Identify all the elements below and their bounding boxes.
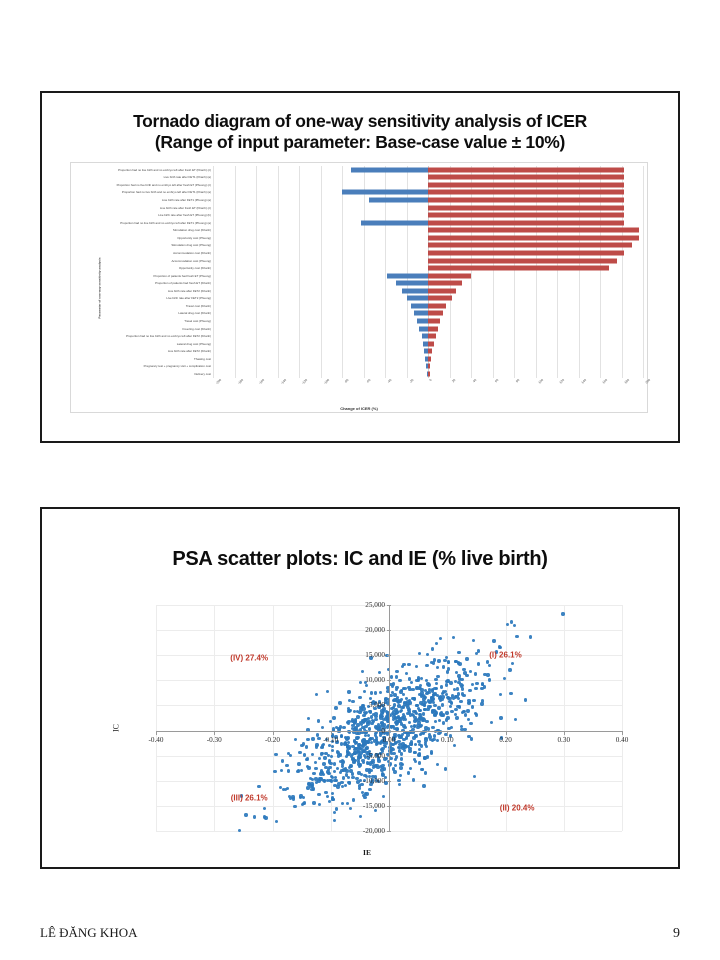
psa-data-point bbox=[407, 771, 410, 774]
psa-data-point bbox=[402, 738, 405, 741]
psa-y-tick-label: -5,000 bbox=[366, 752, 385, 760]
psa-x-tick-label: -0.30 bbox=[207, 736, 222, 744]
psa-data-point bbox=[374, 691, 377, 694]
psa-y-tick-label: 25,000 bbox=[365, 601, 385, 609]
psa-data-point bbox=[356, 737, 359, 740]
psa-data-point bbox=[423, 756, 426, 759]
tornado-x-tick: 100 bbox=[537, 378, 544, 385]
psa-data-point bbox=[378, 671, 381, 674]
psa-data-point bbox=[440, 685, 443, 688]
psa-y-tick-label: 0 bbox=[381, 727, 385, 735]
psa-data-point bbox=[349, 764, 352, 767]
psa-data-point bbox=[358, 784, 361, 787]
psa-data-point bbox=[428, 735, 431, 738]
tornado-category-label: Thawing cost bbox=[81, 355, 211, 363]
tornado-x-tick: -160 bbox=[258, 378, 265, 385]
tornado-bar-row bbox=[213, 234, 643, 242]
psa-data-point bbox=[327, 772, 330, 775]
tornado-category-label: Live birth rate after fresh ET (Phuong) … bbox=[81, 211, 211, 219]
psa-data-point bbox=[331, 749, 334, 752]
psa-data-point bbox=[333, 762, 336, 765]
psa-data-point bbox=[410, 681, 413, 684]
psa-data-point bbox=[358, 696, 361, 699]
psa-data-point bbox=[306, 738, 309, 741]
psa-data-point bbox=[418, 761, 421, 764]
psa-data-point bbox=[509, 692, 512, 695]
psa-y-tickmark bbox=[387, 781, 391, 782]
psa-data-point bbox=[257, 785, 260, 788]
psa-data-point bbox=[347, 690, 350, 693]
tornado-bar-row bbox=[213, 272, 643, 280]
tornado-bar-low bbox=[342, 190, 428, 195]
tornado-bar-high bbox=[428, 198, 624, 203]
psa-data-point bbox=[442, 665, 445, 668]
psa-data-point bbox=[400, 752, 403, 755]
psa-data-point bbox=[398, 783, 401, 786]
psa-data-point bbox=[413, 719, 416, 722]
psa-data-point bbox=[310, 788, 313, 791]
psa-data-point bbox=[449, 705, 452, 708]
footer-author: LÊ ĐĂNG KHOA bbox=[40, 925, 138, 941]
tornado-x-tick: -80 bbox=[343, 378, 349, 384]
psa-data-point bbox=[423, 704, 426, 707]
tornado-category-label: Live birth rate after FET2 (Khanh) bbox=[81, 287, 211, 295]
psa-data-point bbox=[368, 788, 371, 791]
psa-data-point bbox=[342, 776, 345, 779]
psa-data-point bbox=[402, 724, 405, 727]
psa-data-point bbox=[364, 725, 367, 728]
psa-data-point bbox=[410, 740, 413, 743]
psa-data-point bbox=[406, 733, 409, 736]
tornado-title-line-2: (Range of input parameter: Base-case val… bbox=[42, 132, 678, 153]
psa-data-point bbox=[459, 700, 462, 703]
tornado-bar-row bbox=[213, 348, 643, 356]
tornado-bar-high bbox=[428, 273, 471, 278]
psa-data-point bbox=[480, 702, 483, 705]
psa-data-point bbox=[433, 658, 436, 661]
psa-slide-title: PSA scatter plots: IC and IE (% live bir… bbox=[42, 547, 678, 571]
psa-y-tick-label: -15,000 bbox=[363, 802, 385, 810]
tornado-category-label: Pregnancy test + pregnancy visit + compl… bbox=[81, 363, 211, 371]
psa-data-point bbox=[355, 777, 358, 780]
psa-data-point bbox=[447, 667, 450, 670]
psa-data-point bbox=[341, 785, 344, 788]
tornado-x-tick: 40 bbox=[472, 378, 477, 383]
psa-y-tick-label: -10,000 bbox=[363, 777, 385, 785]
psa-data-point bbox=[351, 776, 354, 779]
tornado-bar-high bbox=[428, 258, 617, 263]
psa-data-point bbox=[348, 709, 351, 712]
psa-data-point bbox=[382, 795, 385, 798]
psa-y-tickmark bbox=[387, 756, 391, 757]
psa-data-point bbox=[416, 724, 419, 727]
tornado-category-label: Delivery cost bbox=[81, 370, 211, 378]
psa-scatter-chart: IC -0.40-0.30-0.20-0.100.000.100.200.300… bbox=[102, 597, 632, 859]
psa-data-point bbox=[326, 795, 329, 798]
tornado-bar-row bbox=[213, 325, 643, 333]
psa-data-point bbox=[424, 701, 427, 704]
tornado-category-label: Live birth rate after fresh ET (Khanh) (… bbox=[81, 204, 211, 212]
psa-data-point bbox=[362, 738, 365, 741]
quadrant-III-label: (III) 26.1% bbox=[231, 794, 268, 803]
psa-data-point bbox=[473, 775, 476, 778]
psa-data-point bbox=[294, 738, 297, 741]
psa-data-point bbox=[471, 705, 474, 708]
psa-data-point bbox=[381, 772, 384, 775]
tornado-category-label: Accommodation cost (Khanh) bbox=[81, 249, 211, 257]
psa-y-tick-label: 10,000 bbox=[365, 676, 385, 684]
psa-y-tickmark bbox=[387, 731, 391, 732]
psa-data-point bbox=[299, 794, 302, 797]
psa-data-point bbox=[561, 612, 564, 615]
psa-data-point bbox=[529, 635, 532, 638]
psa-data-point bbox=[361, 704, 364, 707]
psa-data-point bbox=[456, 687, 459, 690]
psa-data-point bbox=[508, 668, 511, 671]
psa-data-point bbox=[326, 690, 329, 693]
psa-data-point bbox=[315, 693, 318, 696]
psa-data-point bbox=[355, 741, 358, 744]
psa-x-axis-title: IE bbox=[102, 848, 632, 857]
psa-data-point bbox=[339, 753, 342, 756]
psa-data-point bbox=[365, 684, 368, 687]
psa-data-point bbox=[366, 721, 369, 724]
tornado-category-label: Lateral drug cost (Khanh) bbox=[81, 310, 211, 318]
tornado-bar-high bbox=[428, 303, 446, 308]
psa-data-point bbox=[312, 801, 315, 804]
psa-data-point bbox=[431, 739, 434, 742]
psa-data-point bbox=[405, 672, 408, 675]
psa-data-point bbox=[331, 745, 334, 748]
psa-data-point bbox=[477, 649, 480, 652]
tornado-bar-high bbox=[428, 341, 434, 346]
psa-data-point bbox=[334, 706, 337, 709]
tornado-category-label: Lateral drug cost (Phuong) bbox=[81, 340, 211, 348]
psa-data-point bbox=[474, 687, 477, 690]
psa-data-point bbox=[356, 715, 359, 718]
psa-data-point bbox=[429, 705, 432, 708]
tornado-x-tick: -40 bbox=[386, 378, 392, 384]
tornado-bar-high bbox=[428, 250, 624, 255]
psa-data-point bbox=[322, 762, 325, 765]
psa-y-tickmark bbox=[387, 705, 391, 706]
psa-data-point bbox=[314, 777, 317, 780]
psa-data-point bbox=[488, 664, 491, 667]
tornado-title-line-1: Tornado diagram of one-way sensitivity a… bbox=[42, 111, 678, 132]
psa-data-point bbox=[300, 769, 303, 772]
tornado-x-tick: 120 bbox=[559, 378, 566, 385]
tornado-bar-row bbox=[213, 257, 643, 265]
tornado-category-label: Live birth rate after FET2 (Khanh) bbox=[81, 348, 211, 356]
tornado-category-label: Accommodation cost (Phuong) bbox=[81, 257, 211, 265]
psa-data-point bbox=[445, 683, 448, 686]
psa-data-point bbox=[320, 752, 323, 755]
psa-data-point bbox=[399, 774, 402, 777]
tornado-bar-high bbox=[428, 334, 436, 339]
tornado-bar-row bbox=[213, 181, 643, 189]
psa-x-tickmark bbox=[273, 731, 274, 735]
psa-data-point bbox=[341, 760, 344, 763]
psa-data-point bbox=[470, 737, 473, 740]
tornado-category-label: Opportunity cost (Khanh) bbox=[81, 264, 211, 272]
psa-data-point bbox=[449, 681, 452, 684]
tornado-slide-title: Tornado diagram of one-way sensitivity a… bbox=[42, 111, 678, 153]
psa-data-point bbox=[454, 708, 457, 711]
psa-data-point bbox=[417, 676, 420, 679]
psa-data-point bbox=[338, 701, 341, 704]
psa-data-point bbox=[475, 682, 478, 685]
psa-data-point bbox=[342, 726, 345, 729]
tornado-bar-row bbox=[213, 219, 643, 227]
tornado-category-label: Stimulation drug cost (Phuong) bbox=[81, 242, 211, 250]
psa-data-point bbox=[424, 771, 427, 774]
psa-data-point bbox=[303, 753, 306, 756]
tornado-bar-low bbox=[407, 296, 429, 301]
psa-data-point bbox=[280, 769, 283, 772]
psa-data-point bbox=[477, 662, 480, 665]
psa-data-point bbox=[490, 721, 493, 724]
psa-data-point bbox=[446, 716, 449, 719]
psa-data-point bbox=[348, 781, 351, 784]
psa-data-point bbox=[339, 771, 342, 774]
psa-data-point bbox=[437, 659, 440, 662]
psa-data-point bbox=[324, 752, 327, 755]
psa-data-point bbox=[273, 770, 276, 773]
psa-x-tick-label: 0.30 bbox=[557, 736, 570, 744]
footer-page-number: 9 bbox=[673, 926, 680, 942]
psa-data-point bbox=[370, 715, 373, 718]
tornado-bar-row bbox=[213, 295, 643, 303]
psa-data-point bbox=[474, 672, 477, 675]
tornado-category-labels: Proportion had no live birth and no embr… bbox=[81, 166, 211, 378]
tornado-category-label: Stimulation drug cost (Khanh) bbox=[81, 227, 211, 235]
tornado-category-label: Opportunity cost (Phuong) bbox=[81, 234, 211, 242]
tornado-category-label: Proportion of patients had fresh ET (Kha… bbox=[81, 279, 211, 287]
tornado-bar-high bbox=[428, 364, 430, 369]
psa-data-point bbox=[457, 674, 460, 677]
psa-x-tickmark bbox=[447, 731, 448, 735]
tornado-x-tick: -180 bbox=[236, 378, 243, 385]
psa-data-point bbox=[461, 687, 464, 690]
tornado-x-tick: 60 bbox=[494, 378, 499, 383]
psa-data-point bbox=[397, 779, 400, 782]
psa-y-tick-label: 5,000 bbox=[369, 701, 385, 709]
psa-data-point bbox=[431, 647, 434, 650]
tornado-bar-row bbox=[213, 249, 643, 257]
psa-data-point bbox=[465, 674, 468, 677]
psa-data-point bbox=[511, 662, 514, 665]
psa-data-point bbox=[395, 675, 398, 678]
tornado-bar-high bbox=[428, 213, 624, 218]
psa-data-point bbox=[253, 815, 256, 818]
psa-data-point bbox=[393, 693, 396, 696]
psa-data-point bbox=[346, 736, 349, 739]
psa-data-point bbox=[279, 786, 282, 789]
psa-data-point bbox=[417, 753, 420, 756]
psa-data-point bbox=[419, 716, 422, 719]
psa-data-point bbox=[324, 791, 327, 794]
psa-data-point bbox=[264, 816, 267, 819]
tornado-bar-row bbox=[213, 355, 643, 363]
psa-plot-area: -0.40-0.30-0.20-0.100.000.100.200.300.40… bbox=[156, 605, 622, 831]
psa-data-point bbox=[435, 642, 438, 645]
psa-data-point bbox=[379, 714, 382, 717]
psa-data-point bbox=[499, 716, 502, 719]
psa-data-point bbox=[426, 708, 429, 711]
tornado-x-tick: -140 bbox=[279, 378, 286, 385]
psa-data-point bbox=[420, 744, 423, 747]
tornado-bar-high bbox=[428, 167, 624, 172]
tornado-category-label: Proportion of patients had fresh ET (Phu… bbox=[81, 272, 211, 280]
psa-x-tick-label: -0.10 bbox=[323, 736, 338, 744]
psa-data-point bbox=[285, 764, 288, 767]
psa-data-point bbox=[399, 766, 402, 769]
psa-x-tick-label: 0.40 bbox=[616, 736, 629, 744]
psa-data-point bbox=[431, 726, 434, 729]
psa-data-point bbox=[333, 770, 336, 773]
psa-data-point bbox=[402, 693, 405, 696]
tornado-category-label: Proportion had no live birth and no embr… bbox=[81, 332, 211, 340]
tornado-bar-high bbox=[428, 281, 462, 286]
psa-data-point bbox=[421, 768, 424, 771]
psa-data-point bbox=[515, 635, 518, 638]
psa-data-point bbox=[357, 763, 360, 766]
psa-data-point bbox=[383, 767, 386, 770]
psa-data-point bbox=[365, 746, 368, 749]
tornado-x-tick: -20 bbox=[408, 378, 414, 384]
psa-x-tickmark bbox=[156, 731, 157, 735]
tornado-x-tick: -200 bbox=[215, 378, 222, 385]
psa-data-point bbox=[447, 661, 450, 664]
tornado-x-tick: 200 bbox=[645, 378, 652, 385]
psa-data-point bbox=[305, 745, 308, 748]
psa-gridline-vertical bbox=[622, 605, 623, 831]
tornado-bar-high bbox=[428, 296, 452, 301]
psa-data-point bbox=[432, 709, 435, 712]
psa-data-point bbox=[297, 762, 300, 765]
psa-data-point bbox=[468, 689, 471, 692]
tornado-x-tick: 20 bbox=[451, 378, 456, 383]
psa-x-tick-label: 0.00 bbox=[383, 736, 396, 744]
psa-data-point bbox=[324, 766, 327, 769]
psa-data-point bbox=[456, 705, 459, 708]
psa-data-point bbox=[413, 724, 416, 727]
psa-data-point bbox=[406, 706, 409, 709]
psa-data-point bbox=[458, 662, 461, 665]
psa-data-point bbox=[238, 829, 241, 832]
psa-data-point bbox=[349, 807, 352, 810]
psa-data-point bbox=[395, 688, 398, 691]
psa-data-point bbox=[444, 767, 447, 770]
tornado-x-tick: -60 bbox=[365, 378, 371, 384]
tornado-bar-row bbox=[213, 340, 643, 348]
psa-x-tick-label: -0.40 bbox=[149, 736, 164, 744]
tornado-bar-row bbox=[213, 204, 643, 212]
psa-data-point bbox=[370, 691, 373, 694]
psa-x-tickmark bbox=[214, 731, 215, 735]
psa-data-point bbox=[425, 692, 428, 695]
tornado-bar-row bbox=[213, 332, 643, 340]
psa-data-point bbox=[342, 768, 345, 771]
psa-data-point bbox=[286, 787, 289, 790]
psa-data-point bbox=[422, 712, 425, 715]
psa-data-point bbox=[409, 701, 412, 704]
psa-data-point bbox=[333, 819, 336, 822]
tornado-x-tick: 180 bbox=[623, 378, 630, 385]
tornado-category-label: Travel cost (Khanh) bbox=[81, 302, 211, 310]
psa-data-point bbox=[315, 743, 318, 746]
psa-data-point bbox=[336, 767, 339, 770]
tornado-category-label: Proportion had no live birth and no embr… bbox=[81, 166, 211, 174]
tornado-bar-high bbox=[428, 288, 456, 293]
psa-y-tick-label: -20,000 bbox=[363, 827, 385, 835]
tornado-bar-high bbox=[428, 349, 432, 354]
psa-data-point bbox=[436, 666, 439, 669]
psa-data-point bbox=[401, 716, 404, 719]
slide-psa-scatter: PSA scatter plots: IC and IE (% live bir… bbox=[40, 507, 680, 869]
psa-data-point bbox=[395, 755, 398, 758]
psa-data-point bbox=[340, 735, 343, 738]
psa-data-point bbox=[302, 742, 305, 745]
tornado-bar-high bbox=[428, 266, 609, 271]
tornado-x-axis-title: Change of ICER (%) bbox=[71, 406, 647, 411]
psa-data-point bbox=[414, 743, 417, 746]
psa-data-point bbox=[445, 711, 448, 714]
tornado-x-tick: -100 bbox=[322, 378, 329, 385]
psa-data-point bbox=[480, 687, 483, 690]
psa-data-point bbox=[486, 660, 489, 663]
quadrant-I-label: (I) 26.1% bbox=[489, 651, 521, 660]
psa-data-point bbox=[418, 748, 421, 751]
tornado-bar-low bbox=[361, 220, 428, 225]
psa-data-point bbox=[492, 639, 495, 642]
psa-data-point bbox=[352, 761, 355, 764]
tornado-category-label: Travel cost (Phuong) bbox=[81, 317, 211, 325]
psa-data-point bbox=[317, 719, 320, 722]
tornado-bar-row bbox=[213, 211, 643, 219]
psa-data-point bbox=[320, 746, 323, 749]
psa-data-point bbox=[420, 688, 423, 691]
tornado-x-tick: 80 bbox=[515, 378, 520, 383]
psa-data-point bbox=[354, 726, 357, 729]
psa-data-point bbox=[317, 737, 320, 740]
slide-footer: LÊ ĐĂNG KHOA 9 bbox=[40, 925, 680, 942]
psa-data-point bbox=[457, 651, 460, 654]
psa-data-point bbox=[312, 772, 315, 775]
psa-data-point bbox=[471, 683, 474, 686]
psa-data-point bbox=[362, 714, 365, 717]
psa-data-point bbox=[391, 685, 394, 688]
psa-data-point bbox=[464, 713, 467, 716]
psa-data-point bbox=[402, 705, 405, 708]
psa-data-point bbox=[425, 664, 428, 667]
tornado-bar-high bbox=[428, 175, 624, 180]
tornado-bar-high bbox=[428, 190, 624, 195]
psa-data-point bbox=[412, 736, 415, 739]
psa-data-point bbox=[412, 778, 415, 781]
tornado-bar-high bbox=[428, 319, 440, 324]
psa-data-point bbox=[403, 744, 406, 747]
psa-data-point bbox=[434, 678, 437, 681]
tornado-category-label: Freezing cost (Khanh) bbox=[81, 325, 211, 333]
psa-data-point bbox=[415, 665, 418, 668]
psa-data-point bbox=[433, 704, 436, 707]
psa-gridline-vertical bbox=[506, 605, 507, 831]
psa-data-point bbox=[438, 719, 441, 722]
psa-data-point bbox=[419, 701, 422, 704]
psa-data-point bbox=[379, 691, 382, 694]
tornado-bar-row bbox=[213, 287, 643, 295]
